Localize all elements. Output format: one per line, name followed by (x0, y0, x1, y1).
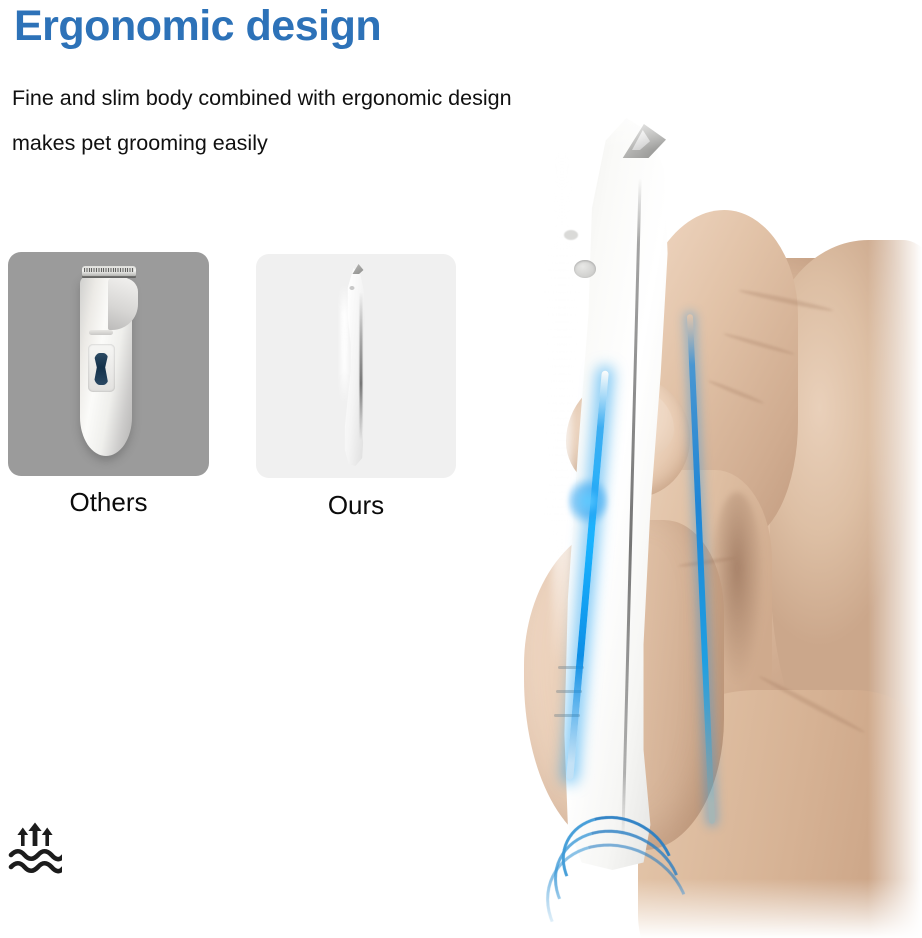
subtitle-block: Fine and slim body combined with ergonom… (12, 76, 652, 166)
our-trimmer-body (330, 268, 378, 466)
competitor-clipper-shoulder (108, 278, 138, 330)
subtitle-line-2: makes pet grooming easily (12, 121, 652, 166)
comparison-label-others: Others (8, 487, 209, 518)
trimmer-led-glow (568, 474, 608, 528)
comparison-panel-ours (256, 254, 456, 478)
page-title: Ergonomic design (14, 2, 381, 51)
competitor-clipper-blade (82, 266, 136, 278)
our-trimmer-highlight (340, 284, 348, 404)
competitor-clipper-illustration (72, 258, 146, 466)
comparison-panel-others (8, 252, 209, 476)
washable-waterproof-icon (8, 818, 62, 876)
our-trimmer-edge-shadow (359, 292, 362, 440)
trimmer-power-button (574, 260, 596, 278)
product-feature-image: Ergonomic design Fine and slim body comb… (0, 0, 922, 938)
our-trimmer-button (349, 286, 354, 290)
arrow-group (17, 823, 52, 847)
product-hero-photo (470, 90, 922, 938)
wave-group (11, 851, 62, 871)
comparison-label-ours: Ours (256, 490, 456, 521)
our-trimmer-illustration (316, 262, 392, 470)
subtitle-line-1: Fine and slim body combined with ergonom… (12, 76, 652, 121)
trimmer-led-strip-right (687, 314, 715, 824)
trimmer-surface-mark (564, 230, 578, 240)
pet-trimmer-device (512, 118, 722, 878)
competitor-clipper-seam (89, 330, 113, 335)
